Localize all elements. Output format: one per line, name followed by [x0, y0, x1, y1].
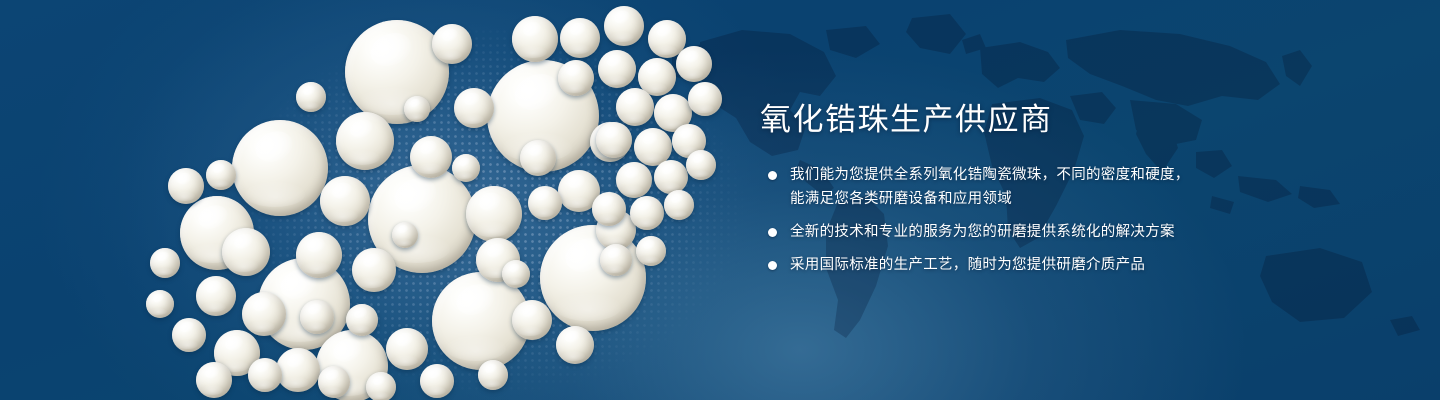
list-item-line-1: 我们能为您提供全系列氧化锆陶瓷微珠，不同的密度和硬度，: [790, 163, 1400, 187]
list-item: 采用国际标准的生产工艺，随时为您提供研磨介质产品: [760, 253, 1400, 277]
list-item-line-1: 全新的技术和专业的服务为您的研磨提供系统化的解决方案: [790, 220, 1400, 244]
bullet-dot-icon: [768, 261, 777, 270]
bullet-dot-icon: [768, 228, 777, 237]
list-item-line-2: 能满足您各类研磨设备和应用领域: [790, 187, 1400, 211]
page-title: 氧化锆珠生产供应商: [760, 104, 1400, 137]
bullet-dot-icon: [768, 171, 777, 180]
list-item: 我们能为您提供全系列氧化锆陶瓷微珠，不同的密度和硬度， 能满足您各类研磨设备和应…: [760, 163, 1400, 211]
list-item: 全新的技术和专业的服务为您的研磨提供系统化的解决方案: [760, 220, 1400, 244]
promo-banner: 氧化锆珠生产供应商 我们能为您提供全系列氧化锆陶瓷微珠，不同的密度和硬度， 能满…: [0, 0, 1440, 400]
list-item-line-1: 采用国际标准的生产工艺，随时为您提供研磨介质产品: [790, 253, 1400, 277]
banner-content: 氧化锆珠生产供应商 我们能为您提供全系列氧化锆陶瓷微珠，不同的密度和硬度， 能满…: [760, 104, 1400, 277]
feature-list: 我们能为您提供全系列氧化锆陶瓷微珠，不同的密度和硬度， 能满足您各类研磨设备和应…: [760, 163, 1400, 277]
